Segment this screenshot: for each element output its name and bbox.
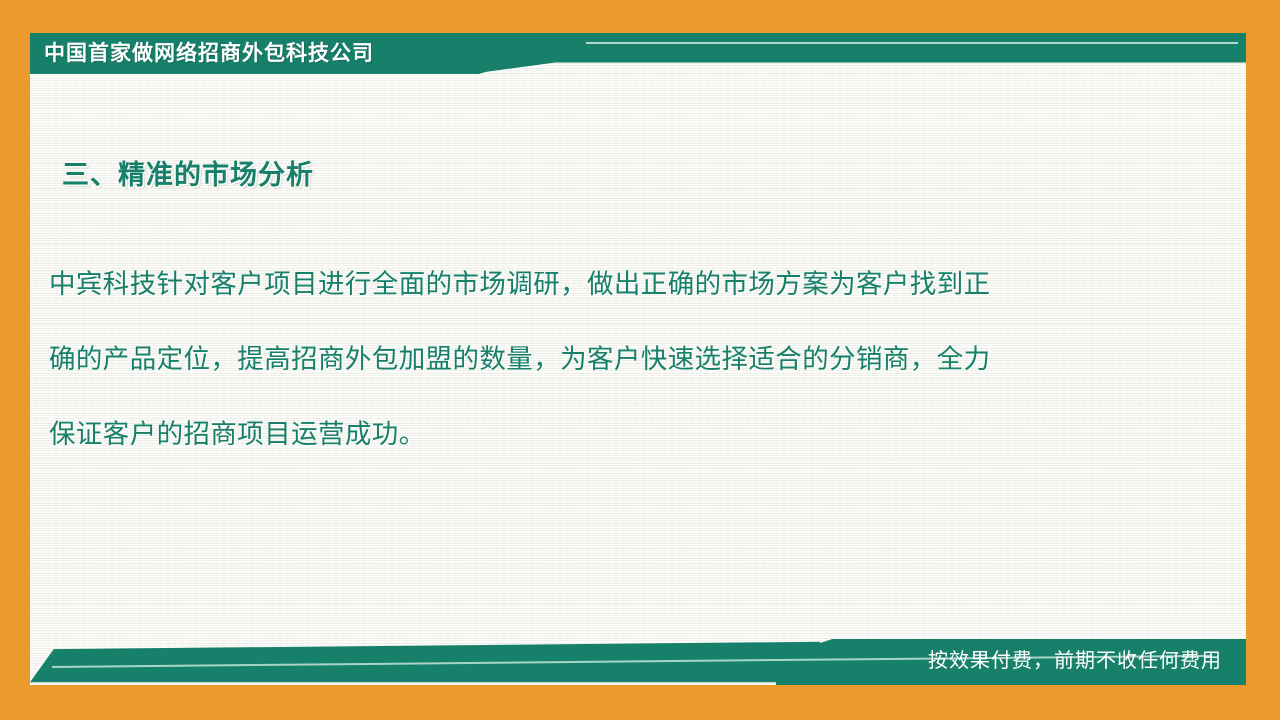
header-accent-bar	[470, 33, 1246, 74]
slide-header: 中国首家做网络招商外包科技公司	[30, 33, 1246, 74]
body-line: 中宾科技针对客户项目进行全面的市场调研，做出正确的市场方案为客户找到正	[49, 247, 1189, 322]
page-title: 三、精准的市场分析	[62, 153, 1246, 192]
slide: 中国首家做网络招商外包科技公司 三、精准的市场分析 中宾科技针对客户项目进行全面…	[0, 0, 1280, 720]
body-paragraph: 中宾科技针对客户项目进行全面的市场调研，做出正确的市场方案为客户找到正 确的产品…	[49, 247, 1189, 472]
slide-content: 三、精准的市场分析 中宾科技针对客户项目进行全面的市场调研，做出正确的市场方案为…	[30, 74, 1246, 472]
slide-paper-background: 中国首家做网络招商外包科技公司 三、精准的市场分析 中宾科技针对客户项目进行全面…	[30, 33, 1246, 685]
footer-tagline: 按效果付费，前期不收任何费用	[928, 639, 1222, 685]
header-hairline-divider	[586, 42, 1238, 44]
header-title: 中国首家做网络招商外包科技公司	[44, 33, 374, 74]
body-line: 确的产品定位，提高招商外包加盟的数量，为客户快速选择适合的分销商，全力	[49, 322, 1189, 397]
body-line: 保证客户的招商项目运营成功。	[49, 397, 1189, 472]
slide-footer: 按效果付费，前期不收任何费用	[30, 639, 1246, 685]
